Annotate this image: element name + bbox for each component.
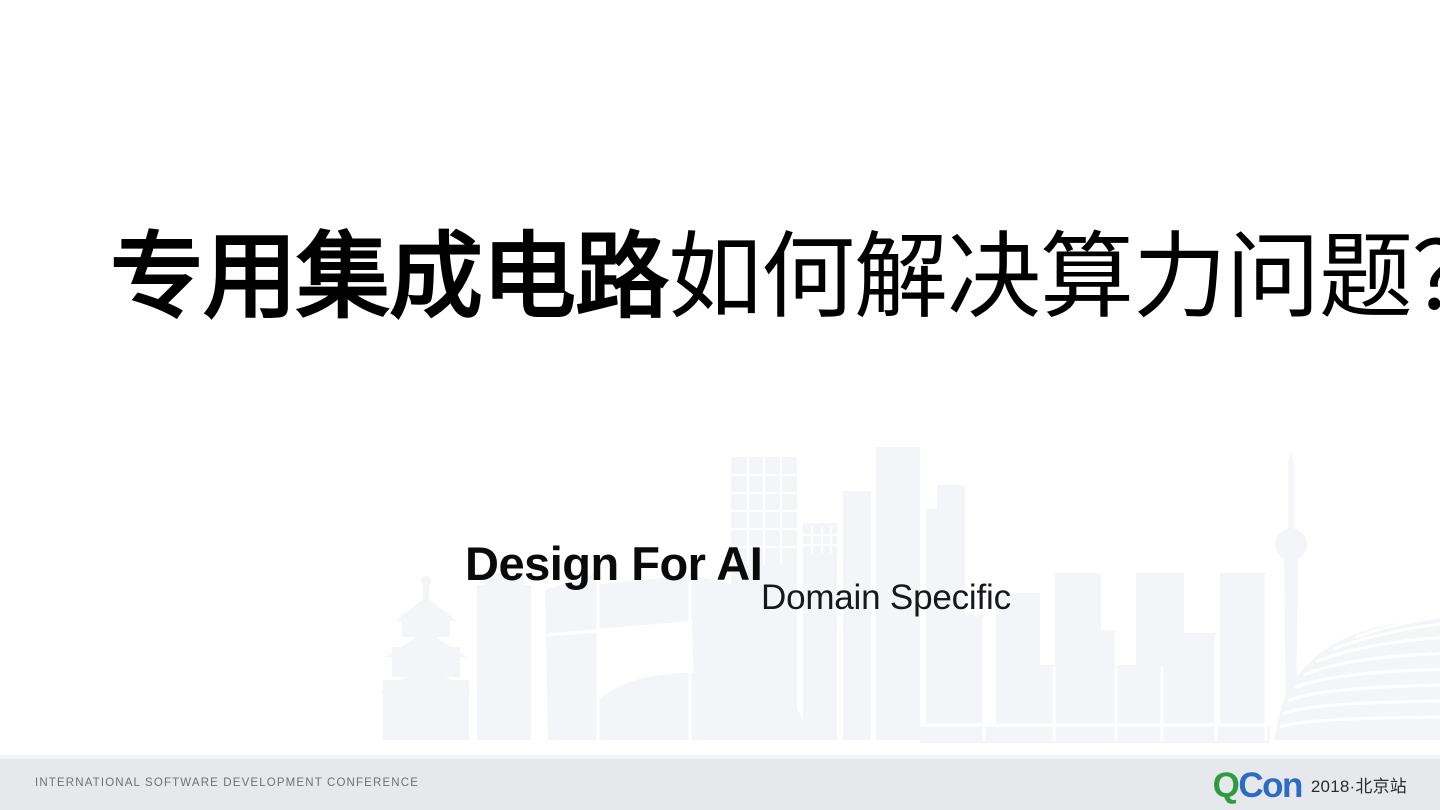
tower-block-10 xyxy=(1220,573,1266,740)
subtitle-primary: Design For AI xyxy=(465,536,762,591)
ncpa-dome-icon xyxy=(1275,618,1440,740)
presentation-slide: 专用集成电路如何解决算力问题？ Design For AI Domain Spe… xyxy=(0,0,1440,810)
qcon-wordmark: QCon xyxy=(1213,768,1302,803)
qcon-letters-con: Con xyxy=(1238,766,1302,805)
slide-title-emphasis: 专用集成电路 xyxy=(110,226,668,330)
qcon-logo: QCon 2018·北京站 xyxy=(1213,768,1407,803)
tower-block-6 xyxy=(936,615,984,740)
slide-title-rest: 如何解决算力问题？ xyxy=(668,226,1440,330)
conference-tagline: INTERNATIONAL SOFTWARE DEVELOPMENT CONFE… xyxy=(35,777,419,789)
slide-subtitle-group: Design For AI Domain Specific xyxy=(465,536,1165,626)
slide-title: 专用集成电路如何解决算力问题？ xyxy=(110,228,1370,330)
qcon-letter-q: Q xyxy=(1213,766,1239,805)
subtitle-secondary: Domain Specific xyxy=(761,578,1011,618)
cctv-tower-icon xyxy=(1275,451,1307,735)
slide-footer-bar: INTERNATIONAL SOFTWARE DEVELOPMENT CONFE… xyxy=(0,755,1440,810)
qcon-edition-label: 2018·北京站 xyxy=(1311,772,1407,799)
birds-nest-stadium-icon xyxy=(575,673,807,740)
temple-of-heaven-icon xyxy=(380,576,472,740)
ncpa-dome-lines xyxy=(1280,616,1440,727)
